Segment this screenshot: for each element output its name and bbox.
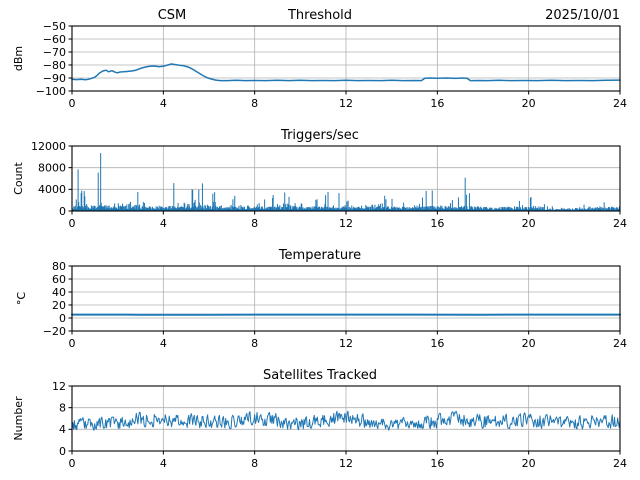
svg-text:4: 4 (160, 337, 167, 350)
svg-text:16: 16 (430, 337, 444, 350)
svg-text:8: 8 (251, 457, 258, 470)
temperature-plot: −2002040608004812162024°C (0, 248, 640, 358)
svg-text:Count: Count (12, 161, 25, 194)
svg-text:12: 12 (339, 457, 353, 470)
svg-text:−60: −60 (43, 33, 66, 46)
svg-text:4: 4 (160, 97, 167, 110)
svg-text:8000: 8000 (38, 161, 66, 174)
svg-text:0: 0 (59, 445, 66, 458)
svg-text:Number: Number (12, 396, 25, 441)
svg-text:4: 4 (160, 217, 167, 230)
svg-text:0: 0 (69, 457, 76, 470)
svg-text:12: 12 (339, 217, 353, 230)
svg-text:20: 20 (522, 457, 536, 470)
svg-text:8: 8 (251, 97, 258, 110)
svg-text:16: 16 (430, 457, 444, 470)
panel-temperature: Temperature −2002040608004812162024°C (0, 248, 640, 358)
svg-text:12: 12 (339, 337, 353, 350)
svg-text:24: 24 (613, 457, 627, 470)
svg-text:20: 20 (52, 299, 66, 312)
svg-text:0: 0 (59, 205, 66, 218)
svg-text:20: 20 (522, 337, 536, 350)
svg-text:60: 60 (52, 273, 66, 286)
svg-text:16: 16 (430, 97, 444, 110)
svg-text:12: 12 (339, 97, 353, 110)
threshold-plot: −100−90−80−70−60−5004812162024dBm (0, 8, 640, 118)
svg-text:dBm: dBm (12, 46, 25, 71)
svg-text:8: 8 (59, 401, 66, 414)
panel-triggers: Triggers/sec 0400080001200004812162024Co… (0, 128, 640, 238)
panel-satellites: Satellites Tracked 0481204812162024Numbe… (0, 368, 640, 480)
svg-text:°C: °C (15, 292, 28, 306)
svg-text:24: 24 (613, 337, 627, 350)
svg-text:−90: −90 (43, 72, 66, 85)
svg-text:8: 8 (251, 337, 258, 350)
svg-text:20: 20 (522, 217, 536, 230)
svg-text:0: 0 (69, 97, 76, 110)
svg-text:4000: 4000 (38, 183, 66, 196)
svg-text:24: 24 (613, 97, 627, 110)
svg-text:20: 20 (522, 97, 536, 110)
panel-threshold: CSM Threshold 2025/10/01 −100−90−80−70−6… (0, 8, 640, 118)
svg-text:0: 0 (69, 337, 76, 350)
svg-text:12000: 12000 (31, 140, 66, 153)
svg-text:16: 16 (430, 217, 444, 230)
svg-text:8: 8 (251, 217, 258, 230)
svg-text:−100: −100 (36, 85, 66, 98)
svg-text:4: 4 (59, 423, 66, 436)
svg-text:0: 0 (69, 217, 76, 230)
svg-text:12: 12 (52, 380, 66, 393)
svg-text:−20: −20 (43, 325, 66, 338)
triggers-plot: 0400080001200004812162024Count (0, 128, 640, 238)
monitoring-figure: CSM Threshold 2025/10/01 −100−90−80−70−6… (0, 0, 640, 480)
svg-text:24: 24 (613, 217, 627, 230)
svg-text:4: 4 (160, 457, 167, 470)
svg-text:−50: −50 (43, 20, 66, 33)
satellites-plot: 0481204812162024Number (0, 368, 640, 480)
svg-text:0: 0 (59, 312, 66, 325)
svg-text:40: 40 (52, 286, 66, 299)
svg-text:−70: −70 (43, 46, 66, 59)
svg-text:80: 80 (52, 260, 66, 273)
svg-text:−80: −80 (43, 59, 66, 72)
